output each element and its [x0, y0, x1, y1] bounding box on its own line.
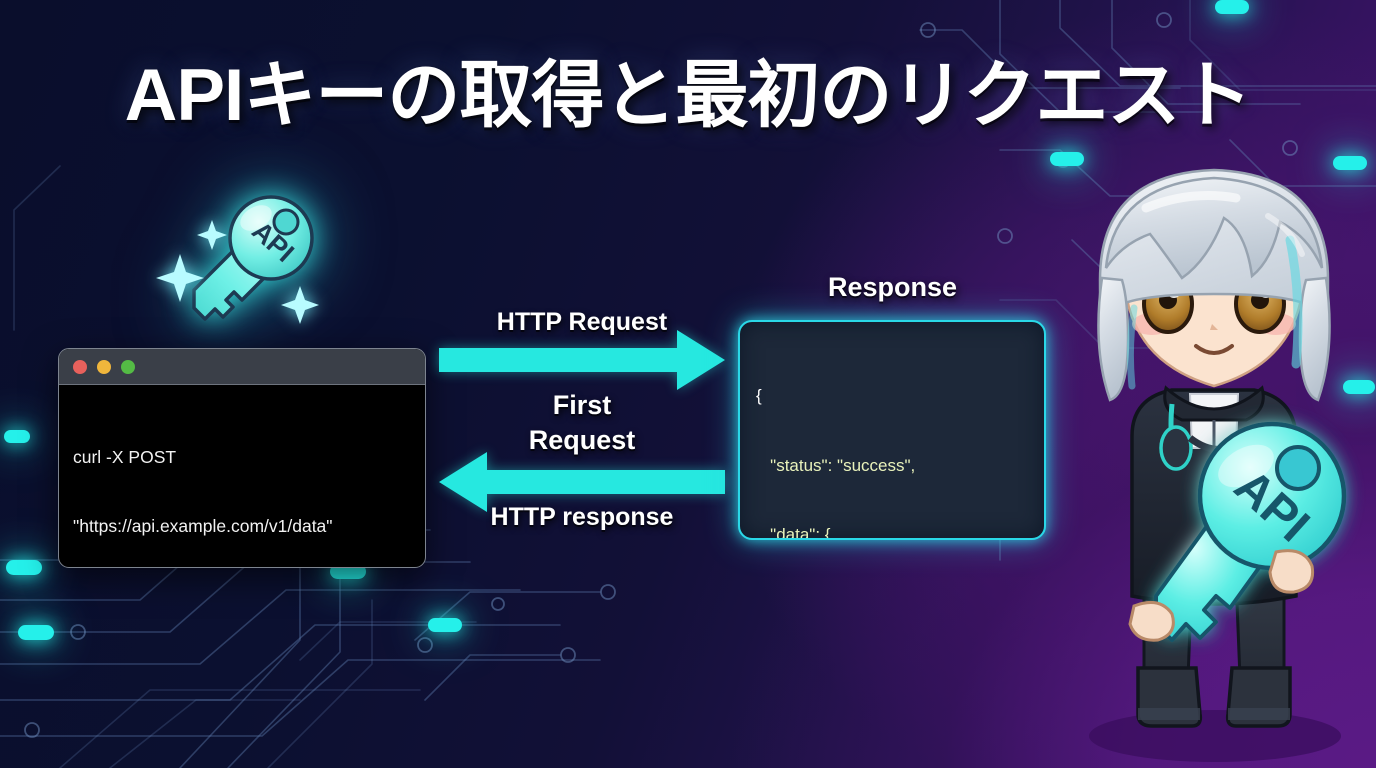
- api-key-icon: API: [148, 182, 328, 332]
- request-arrow: [439, 330, 725, 390]
- page-title: APIキーの取得と最初のリクエスト: [0, 36, 1376, 142]
- http-response-label: HTTP response: [437, 503, 727, 532]
- sparkle-icon: [281, 286, 319, 324]
- close-dot[interactable]: [73, 360, 87, 374]
- json-line: {: [756, 384, 1030, 407]
- first-request-line1: First: [437, 388, 727, 423]
- circuit-node-capsule: [6, 560, 42, 575]
- terminal-line: curl -X POST: [73, 446, 413, 469]
- json-response-body: { "status": "success", "data": { "id": 1…: [756, 338, 1030, 540]
- response-heading: Response: [740, 272, 1045, 303]
- terminal-titlebar: [59, 349, 425, 385]
- floor-shadow: [1089, 710, 1341, 762]
- json-line: "data": {: [756, 523, 1030, 540]
- slide-canvas: APIキーの取得と最初のリクエスト: [0, 0, 1376, 768]
- terminal-line: "https://api.example.com/v1/data": [73, 515, 413, 538]
- json-line: "status": "success",: [756, 454, 1030, 477]
- json-response-panel: { "status": "success", "data": { "id": 1…: [738, 320, 1046, 540]
- first-request-label: First Request: [437, 388, 727, 457]
- first-request-line2: Request: [437, 423, 727, 458]
- terminal-window[interactable]: curl -X POST "https://api.example.com/v1…: [58, 348, 426, 568]
- maximize-dot[interactable]: [121, 360, 135, 374]
- terminal-command-text: curl -X POST "https://api.example.com/v1…: [59, 385, 425, 568]
- sparkle-icon: [197, 220, 227, 250]
- http-request-label: HTTP Request: [437, 308, 727, 337]
- chibi-mascot: API: [1040, 148, 1376, 768]
- minimize-dot[interactable]: [97, 360, 111, 374]
